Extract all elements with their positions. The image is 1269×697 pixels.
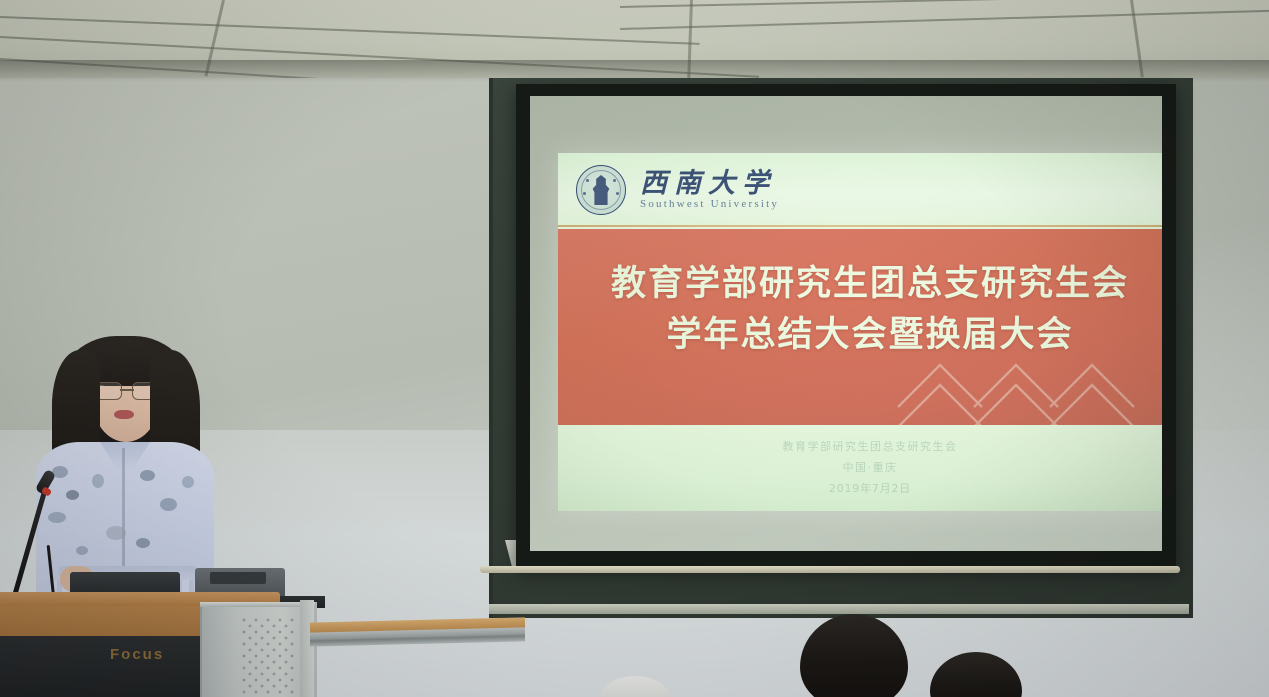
desk-leg bbox=[300, 600, 314, 697]
av-device-notch bbox=[210, 572, 266, 584]
blouse-collar bbox=[100, 442, 150, 472]
presentation-slide: 西南大学 Southwest University bbox=[558, 153, 1162, 511]
screen-surface: 西南大学 Southwest University bbox=[530, 96, 1162, 551]
slide-title-line-1: 教育学部研究生团总支研究生会 bbox=[558, 259, 1162, 310]
glasses-bridge bbox=[120, 389, 134, 391]
projection-screen: 西南大学 Southwest University bbox=[516, 84, 1176, 567]
footer-organization: 教育学部研究生团总支研究生会 bbox=[558, 437, 1162, 458]
podium-front-panel bbox=[0, 636, 200, 697]
university-name-en: Southwest University bbox=[640, 199, 779, 210]
screen-bottom-rail bbox=[480, 566, 1180, 573]
university-logo: 西南大学 Southwest University bbox=[558, 165, 779, 215]
footer-date: 2019年7月2日 bbox=[558, 479, 1162, 500]
footer-location: 中国·重庆 bbox=[558, 458, 1162, 479]
slide-title-band: 教育学部研究生团总支研究生会 学年总结大会暨换届大会 bbox=[558, 229, 1162, 425]
mouth bbox=[114, 410, 134, 419]
university-name-cn: 西南大学 bbox=[640, 170, 779, 197]
speaker-grille-icon bbox=[238, 614, 300, 697]
chalk-tray bbox=[489, 604, 1189, 614]
podium-brand-label: Focus bbox=[110, 646, 164, 663]
slide-header: 西南大学 Southwest University bbox=[558, 153, 1162, 227]
southwest-university-emblem-icon bbox=[576, 165, 626, 215]
slide-title-group: 教育学部研究生团总支研究生会 学年总结大会暨换届大会 bbox=[558, 229, 1162, 361]
av-cabinet-top bbox=[200, 602, 315, 607]
slide-title-line-2: 学年总结大会暨换届大会 bbox=[558, 310, 1162, 361]
header-gold-rule bbox=[558, 225, 1162, 227]
lecture-hall-photo: 西南大学 Southwest University bbox=[0, 0, 1269, 697]
blouse-placket bbox=[122, 448, 125, 568]
slide-footer: 教育学部研究生团总支研究生会 中国·重庆 2019年7月2日 bbox=[558, 425, 1162, 511]
university-name-block: 西南大学 Southwest University bbox=[640, 170, 779, 210]
